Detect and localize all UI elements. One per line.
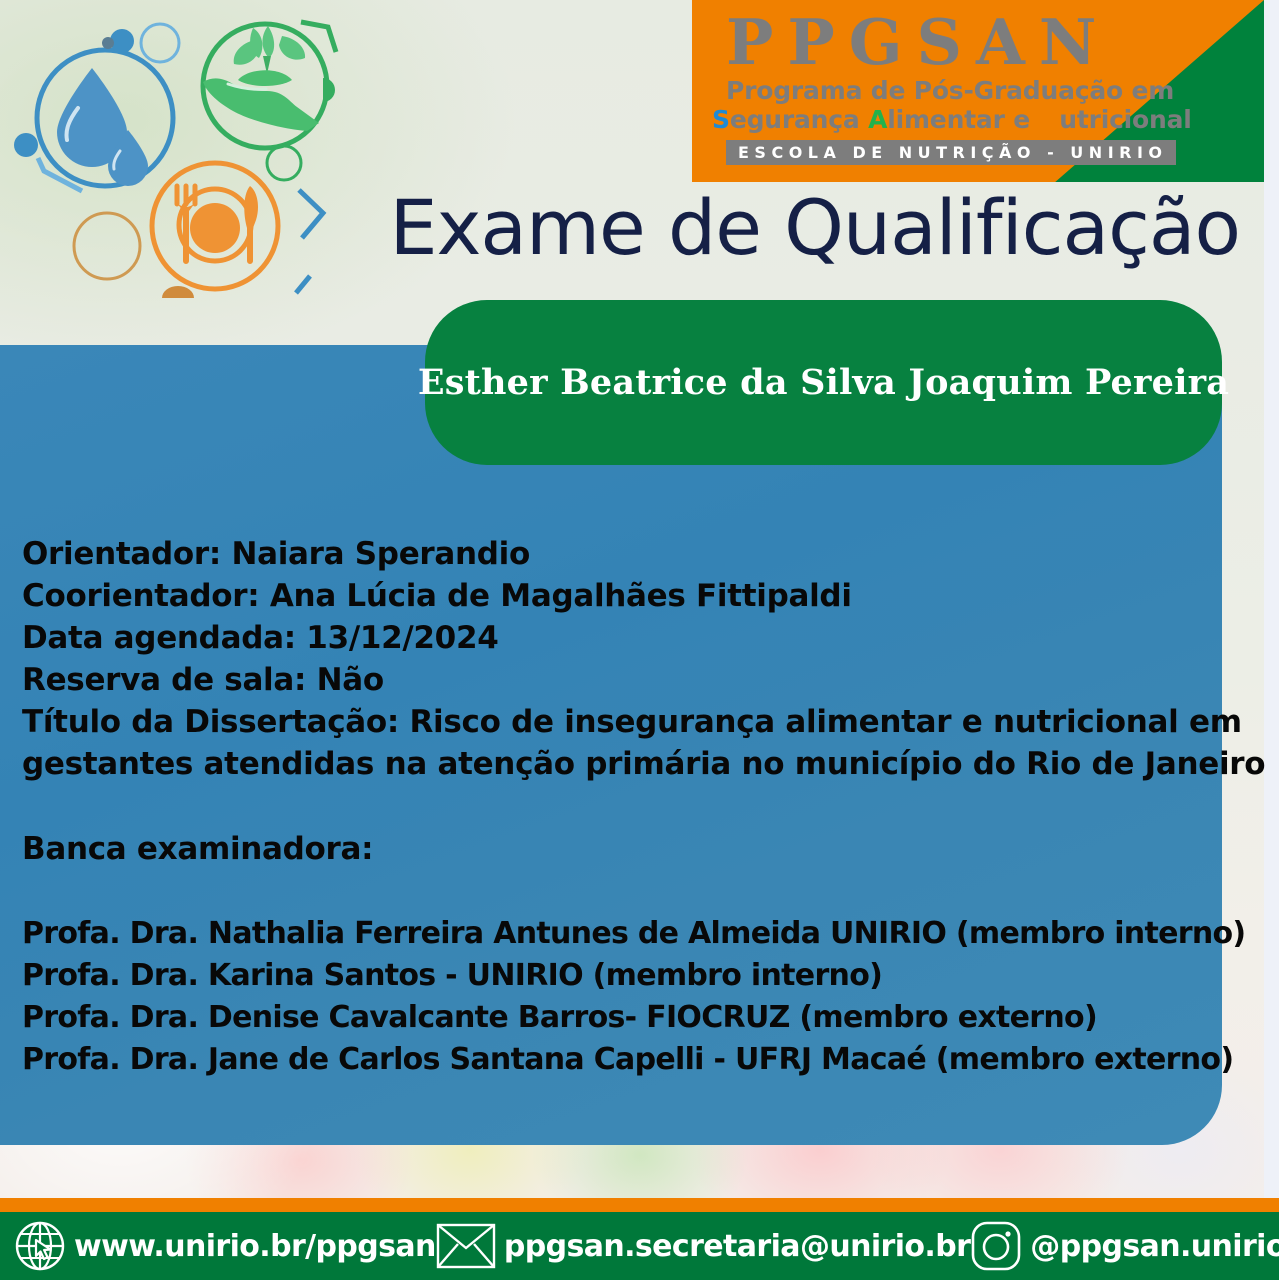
detail-date: Data agendada: 13/12/2024 (22, 617, 1202, 659)
footer-email-text: ppgsan.secretaria@unirio.br (504, 1229, 970, 1264)
detail-dissertation-title-line1: Título da Dissertação: Risco de insegura… (22, 701, 1202, 743)
san-icons-svg (10, 8, 350, 328)
connector-line-left (38, 158, 82, 191)
footer-instagram[interactable]: @ppgsan.unirio (970, 1220, 1279, 1272)
cursor-icon (36, 1240, 51, 1259)
instagram-icon-svg (970, 1220, 1022, 1272)
bubble-dot-left (14, 133, 38, 157)
board-member-2: Profa. Dra. Karina Santos - UNIRIO (memb… (22, 955, 1222, 997)
detail-advisor: Orientador: Naiara Sperandio (22, 533, 1202, 575)
poster-canvas: PPGSAN Programa de Pós-Graduação em Segu… (0, 0, 1279, 1280)
plate-shadow-dot (162, 286, 194, 298)
leaf-center-right (262, 26, 274, 58)
ppgsan-a-letter: A (868, 105, 887, 134)
ppgsan-nutricional-text: utricional (1059, 105, 1191, 134)
ring-green-small (267, 146, 301, 180)
board-heading: Banca examinadora: (22, 831, 373, 867)
san-icon-cluster (10, 8, 350, 328)
board-member-3: Profa. Dra. Denise Cavalcante Barros- FI… (22, 997, 1222, 1039)
ppgsan-subtitle-line2: Segurança Alimentar e Nutricional (712, 105, 1152, 134)
detail-dissertation-title-line2: gestantes atendidas na atenção primária … (22, 743, 1202, 785)
student-name-banner: Esther Beatrice da Silva Joaquim Pereira (425, 300, 1222, 465)
ppgsan-logo: PPGSAN Programa de Pós-Graduação em Segu… (712, 10, 1152, 165)
footer-website[interactable]: www.unirio.br/ppgsan (14, 1220, 436, 1272)
footer-instagram-text: @ppgsan.unirio (1030, 1229, 1279, 1264)
background-right-strip (1264, 0, 1279, 1198)
envelope-icon-svg (436, 1222, 496, 1270)
ppgsan-seguranca-text: egurança (730, 105, 868, 134)
ppgsan-n-letter: N (1038, 105, 1059, 134)
student-name: Esther Beatrice da Silva Joaquim Pereira (418, 362, 1229, 403)
board-member-1: Profa. Dra. Nathalia Ferreira Antunes de… (22, 913, 1222, 955)
detail-room: Reserva de sala: Não (22, 659, 1202, 701)
ppgsan-subtitle-line1: Programa de Pós-Graduação em (726, 76, 1152, 105)
globe-icon (14, 1220, 66, 1272)
instagram-icon (970, 1220, 1022, 1272)
detail-coadvisor: Coorientador: Ana Lúcia de Magalhães Fit… (22, 575, 1202, 617)
connector-line-bottom-right (296, 276, 310, 293)
footer-bar: www.unirio.br/ppgsan ppgsan.secretaria@u… (0, 1212, 1279, 1280)
footer-orange-stripe (0, 1198, 1279, 1212)
ppgsan-alimentar-text: limentar e (887, 105, 1038, 134)
footer-email[interactable]: ppgsan.secretaria@unirio.br (436, 1222, 970, 1270)
ppgsan-s-letter: S (712, 105, 730, 134)
board-member-4: Profa. Dra. Jane de Carlos Santana Capel… (22, 1039, 1222, 1081)
envelope-icon (436, 1222, 496, 1270)
ppgsan-acronym: PPGSAN (712, 10, 1152, 74)
footer-website-text: www.unirio.br/ppgsan (74, 1229, 436, 1264)
ppgsan-school-bar: ESCOLA DE NUTRIÇÃO - UNIRIO (726, 140, 1176, 165)
bubble-dot-small (102, 37, 114, 49)
leaf-right (279, 36, 305, 60)
page-title: Exame de Qualificação (0, 188, 1262, 268)
details-block: Orientador: Naiara Sperandio Coorientado… (22, 533, 1202, 785)
soil-mound (238, 70, 292, 86)
hand-icon (203, 78, 319, 131)
board-members-list: Profa. Dra. Nathalia Ferreira Antunes de… (22, 913, 1222, 1081)
bubble-ring-icon (141, 24, 179, 62)
half-dot-right (323, 78, 335, 102)
globe-icon-svg (14, 1220, 66, 1272)
